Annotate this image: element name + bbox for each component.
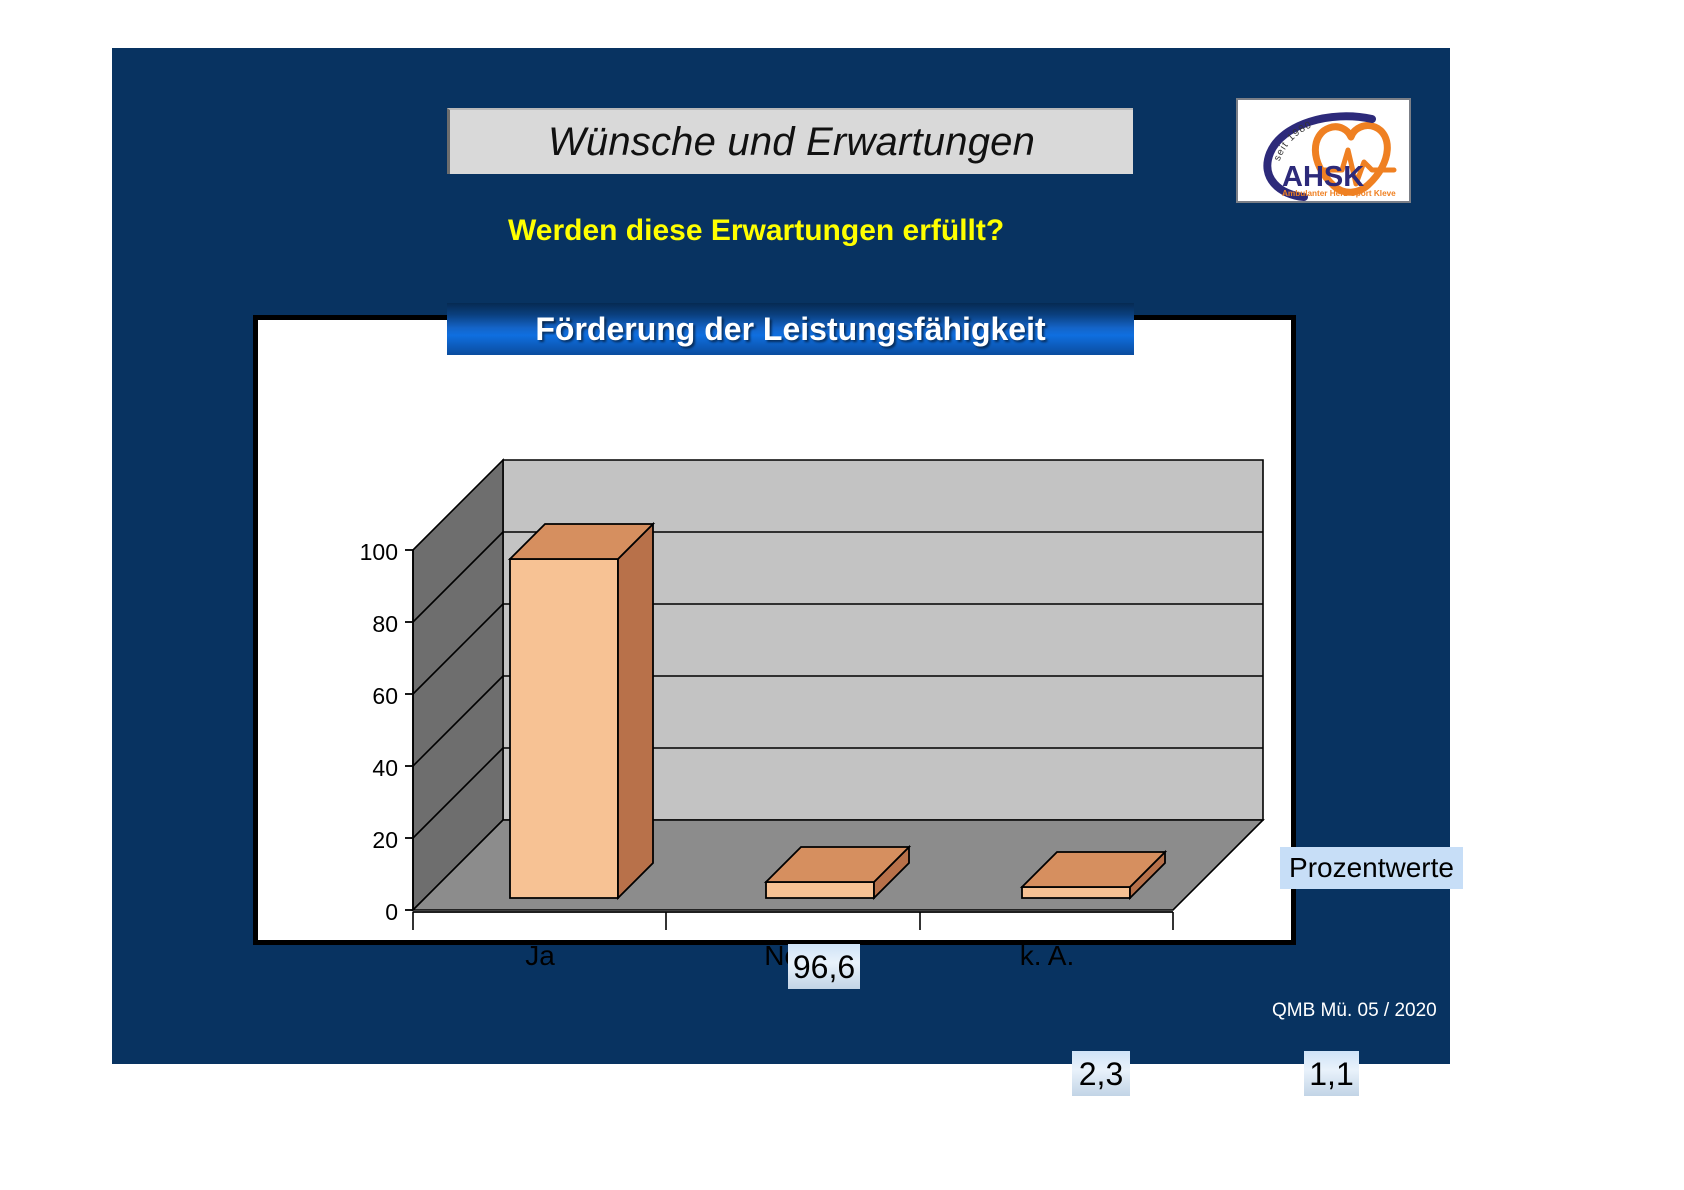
- bar-ka-front: [1022, 887, 1130, 898]
- chart-legend: Prozentwerte: [1280, 847, 1463, 889]
- chart-title-banner: Förderung der Leistungsfähigkeit: [447, 303, 1134, 355]
- data-label-ja: 96,6: [788, 944, 860, 989]
- y-tick-label: 80: [338, 611, 398, 638]
- y-tick-label: 20: [338, 827, 398, 854]
- page-title: Wünsche und Erwartungen: [548, 120, 1035, 165]
- x-tick-label-ja: Ja: [460, 940, 620, 972]
- bar-nein-front: [766, 882, 874, 898]
- y-tick-label: 40: [338, 755, 398, 782]
- slide-canvas: Wünsche und Erwartungen seit 1980 AHSK A…: [0, 0, 1684, 1190]
- slide-title-plate: Wünsche und Erwartungen: [447, 108, 1133, 174]
- logo-subtitle: Ambulanter Herz-Sport Kleve: [1282, 189, 1396, 198]
- y-tick-label: 0: [338, 899, 398, 926]
- chart-title-text: Förderung der Leistungsfähigkeit: [535, 311, 1045, 348]
- ahsk-logo: seit 1980 AHSK Ambulanter Herz-Sport Kle…: [1236, 98, 1411, 203]
- bar-ja-side: [618, 524, 653, 898]
- x-axis-ticks: [413, 912, 1173, 930]
- chart-card: 100 80 60 40 20 0 Ja Nein k. A. 96,6 2,3…: [253, 315, 1296, 945]
- y-axis-ticks: [405, 550, 413, 910]
- bar-chart: 100 80 60 40 20 0 Ja Nein k. A. 96,6 2,3…: [258, 320, 1301, 950]
- chart-svg: [258, 320, 1291, 940]
- footer-text: QMB Mü. 05 / 2020: [1272, 1000, 1437, 1022]
- x-tick-label-ka: k. A.: [967, 940, 1127, 972]
- question-text: Werden diese Erwartungen erfüllt?: [508, 214, 1228, 254]
- y-tick-label: 100: [338, 539, 398, 566]
- data-label-ka: 1,1: [1304, 1051, 1359, 1096]
- bar-ja-front: [510, 559, 618, 898]
- data-label-nein: 2,3: [1072, 1051, 1130, 1096]
- y-tick-label: 60: [338, 683, 398, 710]
- ahsk-logo-icon: seit 1980 AHSK Ambulanter Herz-Sport Kle…: [1238, 100, 1409, 201]
